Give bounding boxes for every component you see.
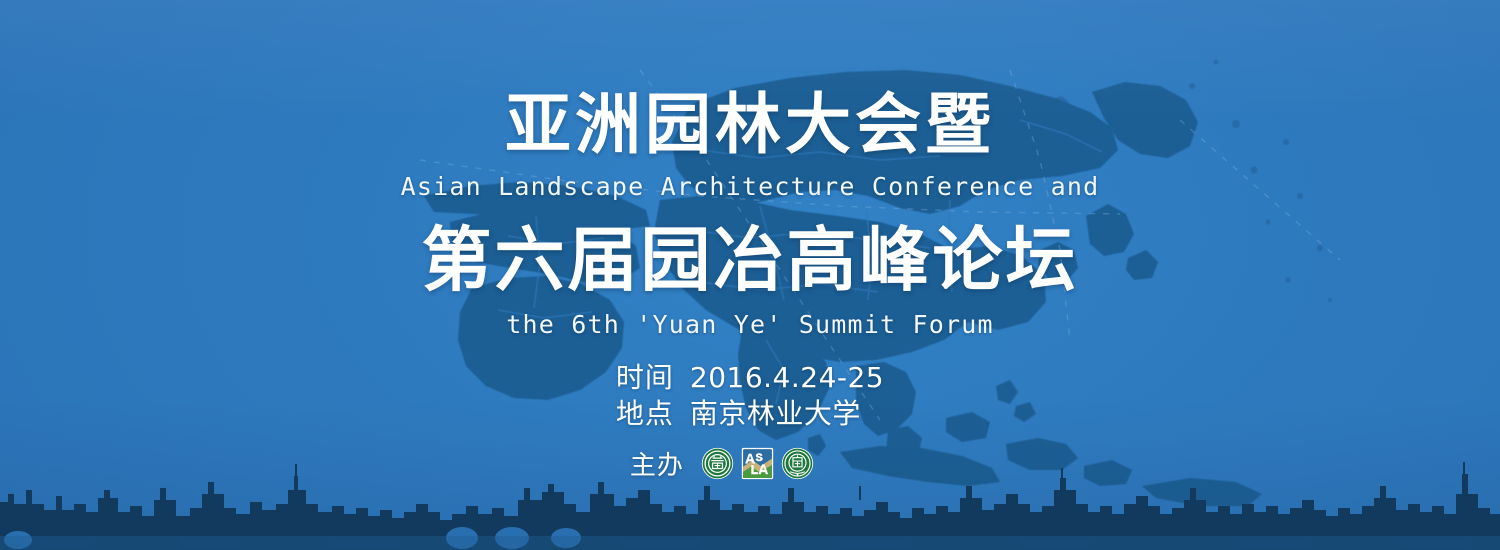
title-line2-chinese: 第六届园冶高峰论坛	[422, 225, 1079, 295]
venue-label: 地点	[616, 397, 674, 430]
event-details: 时间 2016.4.24-25 地点 南京林业大学 主办	[616, 361, 884, 482]
date-label: 时间	[616, 361, 674, 394]
organizer-row: 主办	[630, 445, 814, 482]
banner-content: 亚洲园林大会暨 Asian Landscape Architecture Con…	[0, 0, 1500, 550]
event-venue-row: 地点 南京林业大学	[616, 397, 861, 430]
event-date-row: 时间 2016.4.24-25	[616, 361, 884, 394]
organizer-logo-strip	[701, 447, 814, 480]
chinese-society-of-landscape-architecture-logo	[701, 447, 734, 480]
conference-banner: 亚洲园林大会暨 Asian Landscape Architecture Con…	[0, 0, 1500, 550]
date-value: 2016.4.24-25	[690, 361, 884, 394]
venue-value: 南京林业大学	[690, 397, 861, 430]
title-line1-chinese: 亚洲园林大会暨	[505, 92, 995, 158]
title-line2-english: the 6th 'Yuan Ye' Summit Forum	[506, 312, 994, 337]
asla-logo	[741, 447, 774, 480]
organizer-label: 主办	[630, 445, 684, 482]
title-line1-english: Asian Landscape Architecture Conference …	[401, 174, 1100, 199]
nanjing-forestry-university-logo	[781, 447, 814, 480]
